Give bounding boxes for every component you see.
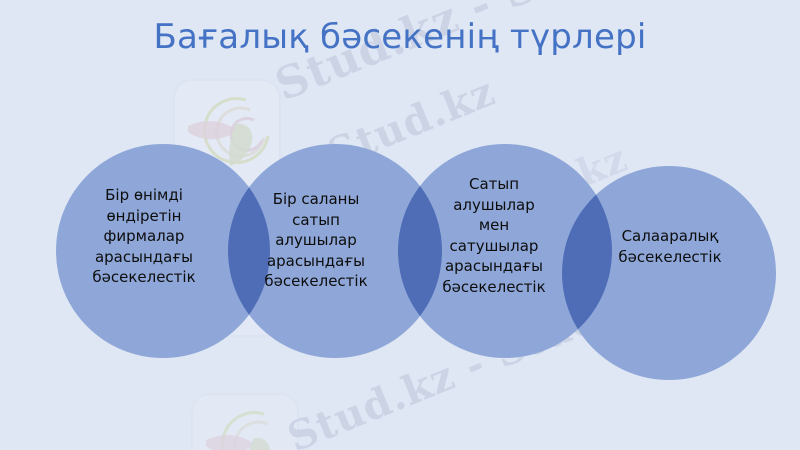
venn-circle-3-label: Сатып алушылар мен сатушылар арасындағы … xyxy=(422,174,566,297)
venn-circle-2-label: Бір саланы сатып алушылар арасындағы бәс… xyxy=(252,189,380,292)
venn-circle-4-label: Салааралық бәсекелестік xyxy=(594,226,746,267)
venn-circle-4[interactable] xyxy=(562,166,776,380)
slide-canvas: Stud.kz - Stud Stud.kz Stud.kz Stud.kz -… xyxy=(0,0,800,450)
venn-circle-1-label: Бір өнімді өндіретін фирмалар арасындағы… xyxy=(73,185,215,288)
slide-title: Бағалық бәсекенің түрлері xyxy=(0,17,800,57)
